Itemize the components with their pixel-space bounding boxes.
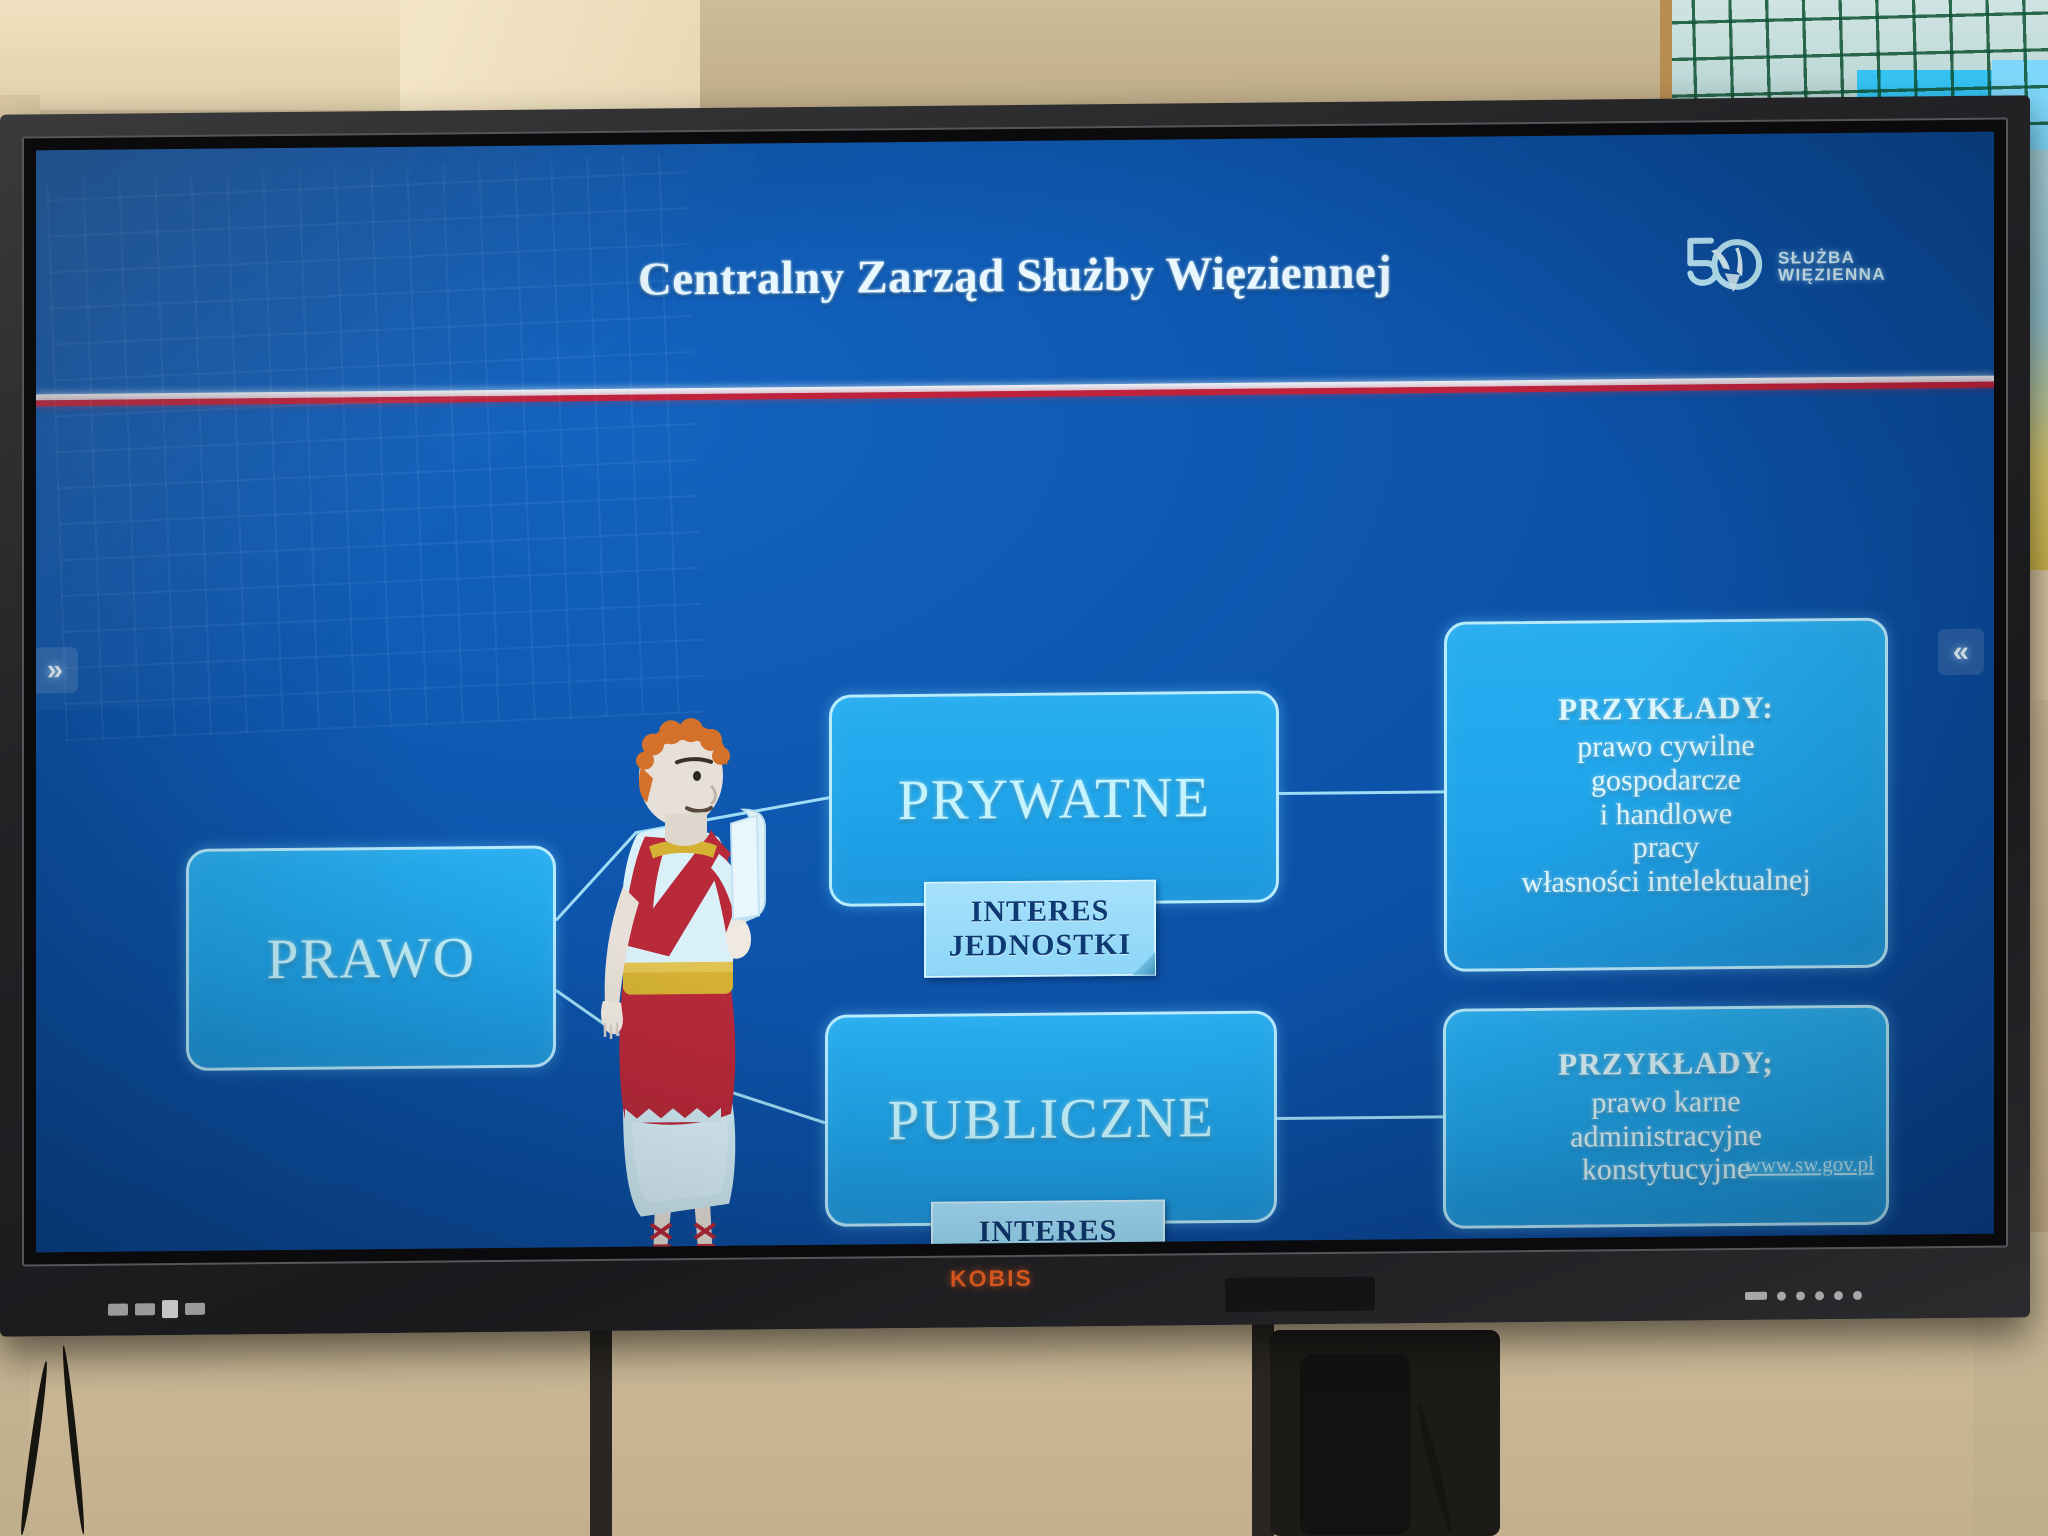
examples-private-item: prawo cywilne xyxy=(1521,729,1810,765)
tag-jednostki-line-2: JEDNOSTKI xyxy=(949,928,1131,963)
tag-jednostki-line-1: INTERES xyxy=(971,895,1110,930)
link-publiczne-examples xyxy=(1277,1117,1443,1119)
examples-public-item: konstytucyjne xyxy=(1558,1152,1774,1188)
ir-sensor-icon xyxy=(1225,1277,1375,1312)
roman-lawyer-figure xyxy=(561,703,791,1252)
node-prawo-label: PRAWO xyxy=(267,925,476,992)
examples-public-item: prawo karne xyxy=(1558,1085,1774,1121)
examples-public-item: administracyjne xyxy=(1558,1118,1774,1154)
node-prywatne-label: PRYWATNE xyxy=(898,765,1211,833)
node-publiczne[interactable]: PUBLICZNE xyxy=(825,1010,1277,1226)
examples-private-item: własności intelektualnej xyxy=(1521,863,1810,899)
tag-interes-jednostki[interactable]: INTERES JEDNOSTKI xyxy=(924,880,1156,978)
node-prawo[interactable]: PRAWO xyxy=(186,845,556,1071)
link-prywatne-examples xyxy=(1279,792,1444,794)
examples-private-body: PRZYKŁADY: prawo cywilne gospodarcze i h… xyxy=(1503,680,1828,910)
examples-private-item: pracy xyxy=(1521,830,1810,866)
wall-corner xyxy=(400,0,740,120)
footer-website-link[interactable]: www.sw.gov.pl xyxy=(1746,1152,1874,1178)
tv-screen[interactable]: Centralny Zarząd Służby Więziennej xyxy=(36,132,1994,1253)
examples-public-heading: PRZYKŁADY; xyxy=(1558,1046,1774,1083)
examples-private-item: gospodarcze xyxy=(1521,762,1810,798)
control-buttons-icon[interactable] xyxy=(1745,1284,1905,1306)
diagram: PRAWO PRYWATNE INTERES JEDNOSTKI PRZYKŁA… xyxy=(36,132,1994,1253)
equipment-box xyxy=(1300,1355,1410,1535)
node-prywatne[interactable]: PRYWATNE xyxy=(829,690,1279,906)
node-examples-private[interactable]: PRZYKŁADY: prawo cywilne gospodarcze i h… xyxy=(1444,618,1888,972)
slide-prev-button[interactable]: » xyxy=(36,647,78,693)
examples-private-item: i handlowe xyxy=(1521,796,1810,832)
wall-upper-left xyxy=(0,0,450,110)
slide-next-button[interactable]: « xyxy=(1938,629,1984,675)
television: KOBIS Centralny Zarząd Służby Więziennej xyxy=(0,105,2048,1335)
node-publiczne-label: PUBLICZNE xyxy=(888,1085,1215,1153)
examples-private-heading: PRZYKŁADY: xyxy=(1521,690,1810,727)
node-examples-public[interactable]: PRZYKŁADY; prawo karne administracyjne k… xyxy=(1443,1005,1889,1229)
hdmi-ports-icon xyxy=(108,1298,218,1321)
tv-brand-label: KOBIS xyxy=(950,1265,1033,1293)
